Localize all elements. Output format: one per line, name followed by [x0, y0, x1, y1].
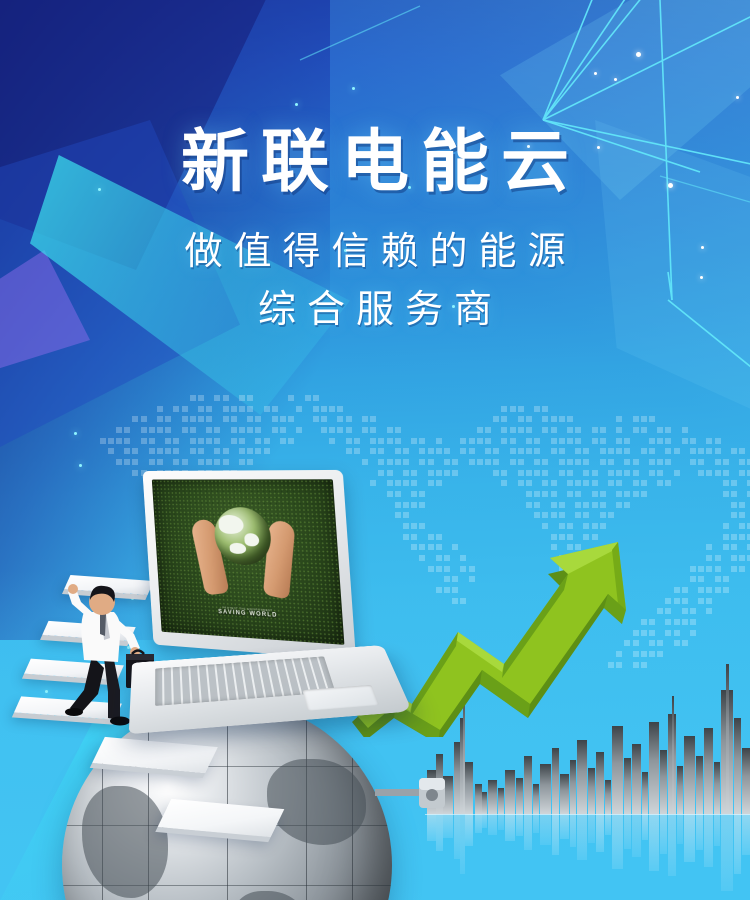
skyline-reflection	[498, 814, 504, 830]
skyline-building	[475, 784, 482, 814]
skyline-spire	[726, 664, 729, 814]
skyline-building	[552, 748, 559, 814]
skyline-reflection	[524, 814, 532, 850]
skyline-reflection	[624, 814, 631, 849]
skyline-reflection	[734, 814, 741, 874]
subtitle-line-2: 综合服务商	[0, 282, 750, 340]
skyline-reflection	[596, 814, 604, 852]
skyline-reflection	[516, 814, 523, 836]
laptop-computer-icon: PROTECT THE ENVIRONMENT SAVING WORLD	[126, 470, 408, 760]
skyline-reflection	[642, 814, 648, 840]
skyline-reflection	[443, 814, 453, 838]
skyline-reflection	[577, 814, 587, 860]
laptop-trackpad	[302, 685, 378, 710]
skyline-reflection	[721, 814, 733, 891]
skyline-building	[488, 780, 497, 814]
skyline-building	[605, 780, 611, 814]
skyline-reflection	[668, 814, 676, 876]
skyline-building	[570, 760, 576, 814]
skyline-reflection	[649, 814, 659, 871]
skyline-building	[524, 756, 532, 814]
skyline-reflection	[696, 814, 703, 850]
skyline-building	[588, 768, 595, 814]
skyline-reflection	[533, 814, 539, 833]
skyline-waterline	[425, 814, 750, 815]
skyline-building	[533, 784, 539, 814]
headline-block: 新联电能云 做值得信赖的能源 综合服务商	[0, 128, 750, 340]
skyline-reflection	[560, 814, 569, 839]
skyline-building	[516, 778, 523, 814]
skyline-reflection	[588, 814, 595, 843]
skyline-building	[742, 748, 750, 814]
skyline-building	[714, 762, 720, 814]
laptop-lid: PROTECT THE ENVIRONMENT SAVING WORLD	[142, 470, 356, 660]
skyline-building	[540, 764, 551, 814]
laptop-screen: PROTECT THE ENVIRONMENT SAVING WORLD	[152, 479, 345, 645]
skyline-reflection	[605, 814, 611, 835]
skyline-building	[642, 772, 648, 814]
skyline-building	[560, 774, 569, 814]
skyline-building	[482, 792, 487, 814]
skyline-building	[577, 740, 587, 814]
skyline-building	[465, 762, 473, 814]
skyline-reflection	[714, 814, 720, 846]
skyline-building	[612, 726, 623, 814]
skyline-reflection	[742, 814, 750, 855]
page-title: 新联电能云	[0, 128, 750, 196]
skyline-reflection	[570, 814, 576, 847]
skyline-reflection	[677, 814, 683, 844]
skyline-reflection	[540, 814, 551, 845]
skyline-building	[632, 744, 641, 814]
skyline-building	[696, 756, 703, 814]
skyline-building	[734, 718, 741, 814]
banner-canvas: 新联电能云 做值得信赖的能源 综合服务商	[0, 0, 750, 900]
skyline-building	[660, 750, 667, 814]
skyline-reflection	[505, 814, 515, 841]
skyline-reflection	[482, 814, 487, 828]
skyline-reflection	[436, 814, 443, 851]
skyline-building	[677, 766, 683, 814]
skyline-reflection	[684, 814, 695, 862]
skyline-building	[624, 758, 631, 814]
skyline-building	[704, 728, 713, 814]
skyline-building	[505, 770, 515, 814]
city-skyline-icon	[425, 716, 750, 900]
skyline-reflection	[660, 814, 667, 854]
skyline-reflection	[552, 814, 559, 855]
skyline-building	[498, 788, 504, 814]
skyline-reflection	[427, 814, 436, 841]
skyline-reflection	[488, 814, 497, 835]
laptop-base	[129, 645, 413, 734]
skyline-reflection	[632, 814, 641, 857]
key-plug-icon	[375, 772, 453, 814]
skyline-reflection	[465, 814, 473, 846]
subtitle-line-1: 做值得信赖的能源	[0, 224, 750, 282]
skyline-building	[596, 752, 604, 814]
skyline-reflection	[475, 814, 482, 833]
skyline-reflection	[612, 814, 623, 869]
skyline-building	[684, 736, 695, 814]
skyline-reflection	[704, 814, 713, 867]
